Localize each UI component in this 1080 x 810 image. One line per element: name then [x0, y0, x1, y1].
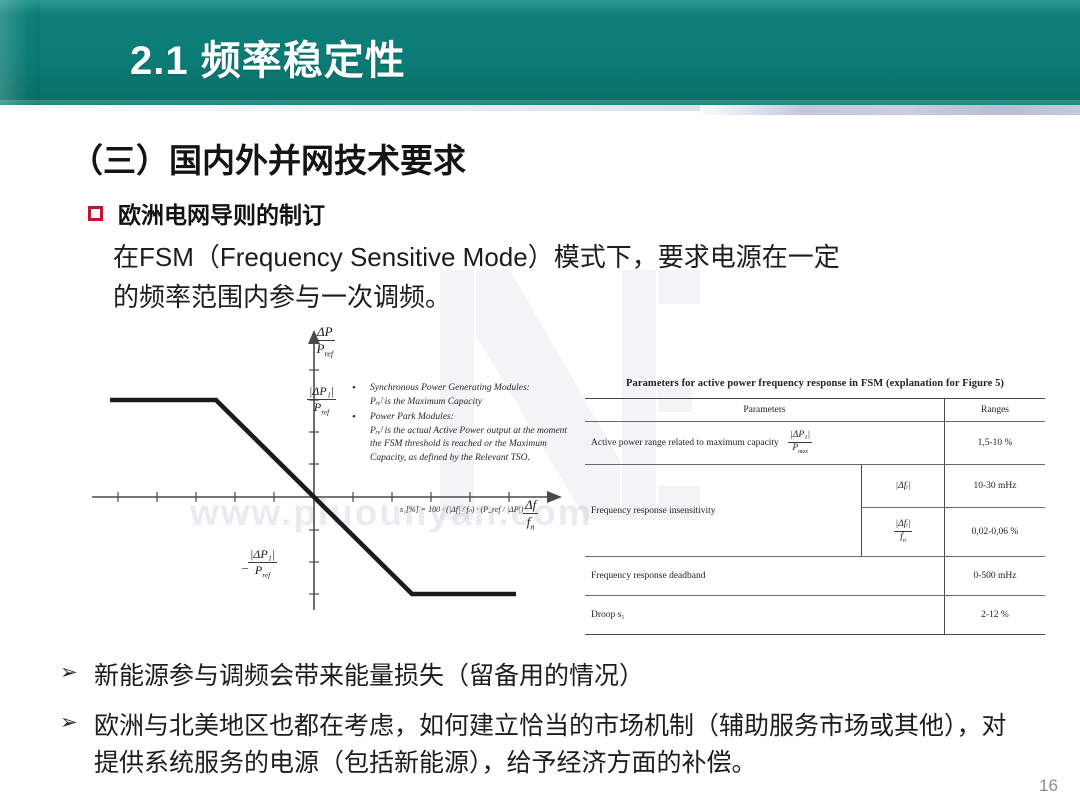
annotation-line: the FSM threshold is reached or the Maxi…: [370, 438, 605, 452]
table-cell-symbol: |Δfᵢ|: [862, 465, 945, 508]
table-cell-symbol: |ΔP₁| Pmax: [788, 431, 812, 455]
chart-y-axis-label-den: Pref: [315, 341, 335, 359]
table-header-ranges: Ranges: [945, 399, 1046, 422]
table-cell-range: 0,02-0,06 %: [945, 508, 1046, 557]
list-item-line: 新能源参与调频会带来能量损失（留备用的情况）: [94, 658, 644, 695]
red-square-bullet-icon: [88, 206, 103, 221]
chart-x-axis-label: Δf fn: [523, 498, 538, 532]
table-cell-range: 1,5-10 %: [945, 422, 1046, 465]
chart-positive-level-num: |ΔP₁|: [307, 385, 336, 400]
table-cell-range: 10-30 mHz: [945, 465, 1046, 508]
fsm-parameters-figure: Parameters for active power frequency re…: [585, 378, 1045, 635]
annotation-line: Pᵣₑᶠ is the actual Active Power output a…: [370, 425, 605, 439]
bottom-bullet-list: ➢ 新能源参与调频会带来能量损失（留备用的情况） ➢ 欧洲与北美地区也都在考虑，…: [60, 658, 1050, 795]
header-underband-left: [0, 105, 700, 111]
intro-paragraph-line-1: 在FSM（Frequency Sensitive Mode）模式下，要求电源在一…: [113, 237, 943, 277]
annotation-line: Capacity, as defined by the Relevant TSO…: [370, 452, 605, 466]
table-row: Frequency response deadband 0-500 mHz: [585, 557, 1045, 596]
table-cell-range: 2-12 %: [945, 596, 1046, 635]
list-item-text: 新能源参与调频会带来能量损失（留备用的情况）: [94, 658, 644, 695]
table-cell-parameter-text: Active power range related to maximum ca…: [591, 438, 779, 448]
table-cell-range: 0-500 mHz: [945, 557, 1046, 596]
slide-header-banner: 2.1 频率稳定性: [0, 0, 1080, 105]
table-cell-parameter: Active power range related to maximum ca…: [585, 422, 945, 465]
table-cell-symbol: |Δfᵢ| fn: [862, 508, 945, 557]
intro-paragraph: 在FSM（Frequency Sensitive Mode）模式下，要求电源在一…: [113, 237, 943, 317]
chart-negative-level-label: |ΔP₁| Pref: [248, 548, 277, 579]
list-item: ➢ 欧洲与北美地区也都在考虑，如何建立恰当的市场机制（辅助服务市场或其他），对 …: [60, 708, 1050, 782]
table-caption: Parameters for active power frequency re…: [585, 378, 1045, 389]
chart-y-axis-label-num: ΔP: [315, 325, 335, 341]
list-item: ➢ 新能源参与调频会带来能量损失（留备用的情况）: [60, 658, 1050, 695]
chart-annotation-block: • Synchronous Power Generating Modules: …: [370, 382, 605, 465]
annotation-line: Pᵣₑᶠ is the Maximum Capacity: [370, 396, 605, 410]
sub-bullet-row: 欧洲电网导则的制订: [88, 196, 325, 230]
chart-x-axis-label-num: Δf: [523, 498, 538, 514]
table-header-parameters: Parameters: [585, 399, 945, 422]
chart-droop-formula: s₁[%] = 100 · (|Δf| / fₙ) · (P_ref / |ΔP…: [400, 505, 523, 514]
chart-positive-level-den: Pref: [307, 400, 336, 416]
table-row: Frequency response insensitivity |Δfᵢ| 1…: [585, 465, 1045, 508]
chart-x-axis-label-den: fn: [523, 514, 538, 532]
sub-bullet-label: 欧洲电网导则的制订: [118, 196, 325, 230]
table-cell-parameter: Frequency response insensitivity: [585, 465, 862, 557]
slide-header-title: 2.1 频率稳定性: [130, 28, 406, 86]
table-row: Droop s₁ 2-12 %: [585, 596, 1045, 635]
arrow-bullet-icon: ➢: [60, 708, 80, 733]
table-row: Active power range related to maximum ca…: [585, 422, 1045, 465]
chart-y-axis-label: ΔP Pref: [315, 325, 335, 359]
annotation-line: Power Park Modules:: [370, 411, 605, 425]
table-header-row: Parameters Ranges: [585, 399, 1045, 422]
chart-positive-level-label: |ΔP₁| Pref: [307, 385, 336, 416]
header-underband-right: [695, 105, 1080, 115]
annotation-line: Synchronous Power Generating Modules:: [370, 382, 605, 396]
table-cell-parameter: Droop s₁: [585, 596, 945, 635]
section-heading: （三）国内外并网技术要求: [70, 134, 466, 182]
list-item-line: 提供系统服务的电源（包括新能源），给予经济方面的补偿。: [94, 745, 1007, 782]
chart-negative-level-num: |ΔP₁|: [248, 548, 277, 563]
fsm-parameters-table: Parameters Ranges Active power range rel…: [585, 398, 1045, 635]
page-number: 16: [1039, 776, 1058, 796]
list-item-line: 欧洲与北美地区也都在考虑，如何建立恰当的市场机制（辅助服务市场或其他），对: [94, 708, 1007, 745]
arrow-bullet-icon: ➢: [60, 658, 80, 683]
annotation-bullet-dot-icon: •: [352, 382, 356, 396]
droop-characteristic-chart: [92, 322, 592, 617]
chart-negative-level-den: Pref: [248, 563, 277, 579]
chart-annotation-item: • Synchronous Power Generating Modules: …: [370, 382, 605, 409]
list-item-text: 欧洲与北美地区也都在考虑，如何建立恰当的市场机制（辅助服务市场或其他），对 提供…: [94, 708, 1007, 782]
annotation-bullet-dot-icon: •: [352, 411, 356, 425]
table-cell-parameter: Frequency response deadband: [585, 557, 945, 596]
intro-paragraph-line-2: 的频率范围内参与一次调频。: [113, 277, 943, 317]
chart-annotation-item: • Power Park Modules: Pᵣₑᶠ is the actual…: [370, 411, 605, 465]
